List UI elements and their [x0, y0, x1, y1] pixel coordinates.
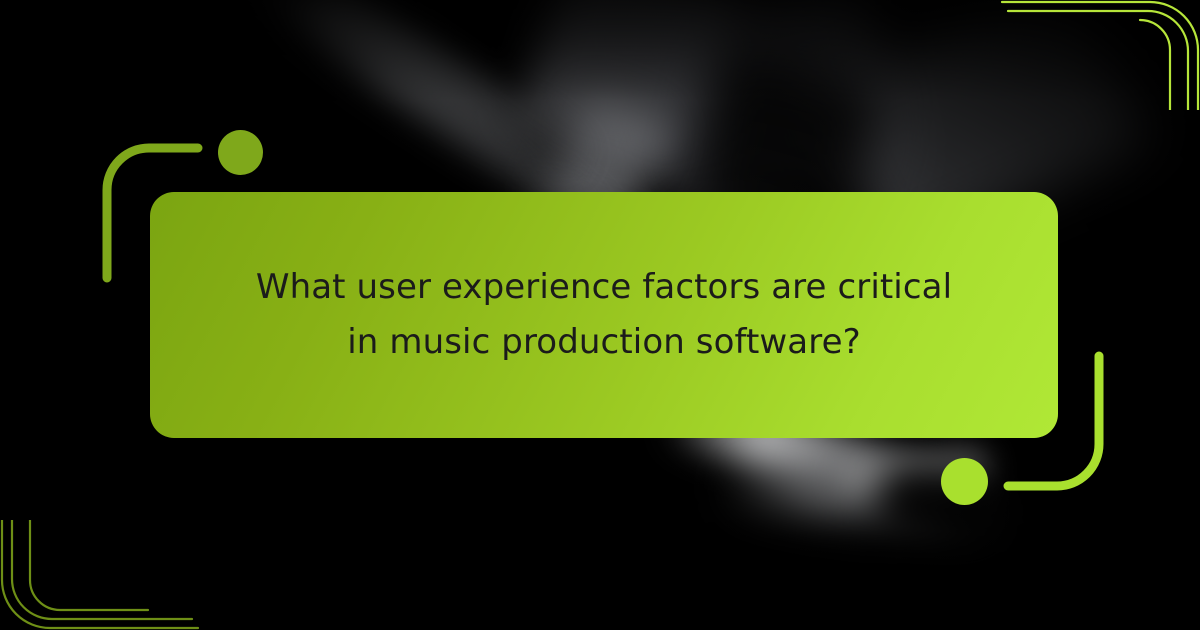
accent-dot-top-left-icon [218, 130, 263, 175]
question-text: What user experience factors are critica… [244, 260, 964, 370]
social-card-canvas: What user experience factors are critica… [0, 0, 1200, 630]
corner-lines-top-right-icon [1000, 0, 1200, 110]
corner-lines-bottom-left-icon [0, 520, 200, 630]
question-card: What user experience factors are critica… [150, 192, 1058, 438]
accent-dot-bottom-right-icon [941, 458, 988, 505]
